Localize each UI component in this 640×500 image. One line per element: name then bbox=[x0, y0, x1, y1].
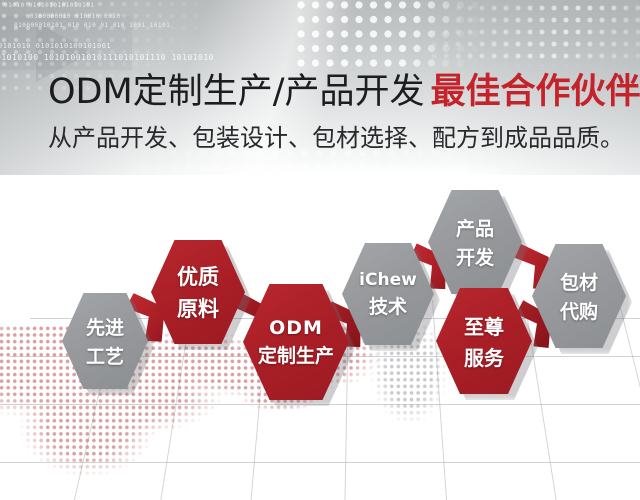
hex-label-line: 产品 bbox=[456, 214, 494, 241]
hex-label-line: 服务 bbox=[464, 342, 504, 371]
hex-label-line: 开发 bbox=[456, 243, 494, 270]
hex-label-line: 包材 bbox=[560, 268, 598, 295]
process-flow-diagram: 先进 工艺 优质 原料 ODM 定制生产 iChew 技术 产品 开发 至尊 服… bbox=[0, 0, 640, 500]
hex-label-line: 优质 bbox=[177, 261, 219, 291]
hex-label-line: 代购 bbox=[560, 297, 598, 324]
hex-label-line: 至尊 bbox=[464, 311, 504, 340]
hex-label-line: 工艺 bbox=[86, 342, 124, 369]
hex-label-line: 先进 bbox=[86, 313, 124, 340]
hex-label-line: ODM bbox=[269, 317, 323, 339]
hex-label-line: 定制生产 bbox=[258, 341, 334, 368]
banner-stage: 01010 0101010101010101 0100000010 010010… bbox=[0, 0, 640, 500]
hex-label-line: iChew bbox=[359, 270, 417, 290]
hex-label-line: 技术 bbox=[369, 292, 407, 319]
hex-label-line: 原料 bbox=[177, 293, 219, 323]
